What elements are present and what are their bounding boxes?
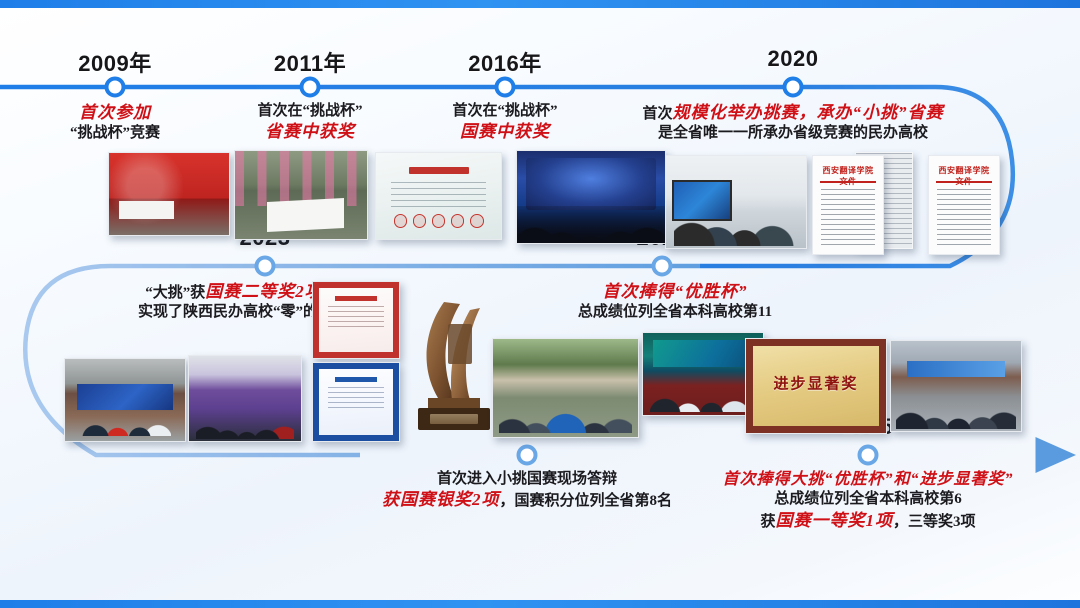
- caption-2025: 首次捧得大挑“优胜杯”和“进步显著奖” 总成绩位列全省本科高校第6 获国赛一等奖…: [722, 470, 1013, 532]
- photo-street-students-image: [891, 341, 1021, 431]
- photo-exhibition-booth-team-image: [189, 356, 301, 441]
- document-body-lines: [937, 189, 990, 246]
- caption-2009-line1: 首次参加: [70, 102, 160, 124]
- caption-2011-line1: 首次在“挑战杯”: [257, 102, 362, 121]
- caption-2011-line2: 省赛中获奖: [257, 121, 362, 143]
- caption-2020: 首次规模化举办挑赛，承办“小挑”省赛 是全省唯一一所承办省级竞赛的民办高校: [642, 102, 943, 143]
- seal-icon: [451, 214, 465, 228]
- photo-team-flag-group[interactable]: [234, 150, 368, 240]
- photo-classroom-competition-image: [666, 156, 806, 248]
- document-rule: [936, 181, 992, 183]
- caption-2024-line1: 首次进入小挑国赛现场答辩: [382, 470, 672, 489]
- trophy-icon: [404, 290, 502, 440]
- photo-conference-hall-image: [517, 151, 665, 243]
- caption-2025-line3-c: ，三等奖3项: [893, 514, 976, 530]
- timeline-slide: 2009年 2011年 2016年 2020 2023 2022 2024 20…: [0, 0, 1080, 608]
- caption-2024-line2: 获国赛银奖2项，国赛积分位列全省第8名: [382, 489, 672, 511]
- caption-2022-line2: 总成绩位列全省本科高校第11: [578, 303, 772, 322]
- photo-street-students[interactable]: [890, 340, 1022, 432]
- photo-plaque-progress-award[interactable]: 进步显著奖: [745, 338, 887, 434]
- photo-exhibition-booth-team[interactable]: [188, 355, 302, 442]
- caption-2016: 首次在“挑战杯” 国赛中获奖: [452, 102, 557, 143]
- year-label-2011: 2011年: [274, 46, 346, 78]
- plaque-award-text: 进步显著奖: [753, 372, 879, 393]
- photo-plaque-progress-award-image: 进步显著奖: [746, 339, 886, 433]
- caption-2009: 首次参加 “挑战杯”竞赛: [70, 102, 160, 143]
- photo-university-document-2-image: 西安翻译学院文件: [929, 156, 999, 254]
- caption-2024-line2-b: ，国赛积分位列全省第8名: [499, 493, 672, 509]
- caption-2024: 首次进入小挑国赛现场答辩 获国赛银奖2项，国赛积分位列全省第8名: [382, 470, 672, 511]
- node-2020: [785, 79, 802, 96]
- document-rule: [820, 181, 876, 183]
- photo-expo-outdoor-group-image: [65, 359, 185, 441]
- document-title-text: 西安翻译学院文件: [935, 165, 994, 187]
- seal-icon: [394, 214, 408, 228]
- year-label-2016: 2016年: [468, 46, 541, 78]
- photo-certificate-blue-image: [313, 363, 399, 441]
- caption-2025-line3: 获国赛一等奖1项，三等奖3项: [722, 510, 1013, 532]
- caption-2024-line2-a: 获国赛银奖2项: [382, 490, 500, 509]
- caption-2025-line2: 总成绩位列全省本科高校第6: [722, 490, 1013, 509]
- bottom-accent-bar: [0, 600, 1080, 608]
- caption-2025-line3-a: 获: [760, 514, 775, 530]
- photo-expo-outdoor-group[interactable]: [64, 358, 186, 442]
- document-title-text: 西安翻译学院文件: [819, 165, 878, 187]
- photo-team-flag-group-image: [235, 151, 367, 239]
- caption-2023-line1-a: “大挑”获: [145, 285, 205, 301]
- photo-certificate-red[interactable]: [312, 281, 400, 359]
- node-2024: [519, 447, 536, 464]
- year-label-2009: 2009年: [78, 46, 151, 78]
- photo-university-document-1[interactable]: 西安翻译学院文件: [812, 155, 884, 255]
- photo-certificate-blue[interactable]: [312, 362, 400, 442]
- year-label-2020: 2020: [768, 46, 819, 72]
- caption-2025-line3-b: 国赛一等奖1项: [775, 511, 893, 530]
- node-2023: [257, 258, 274, 275]
- photo-chuangqingchun-banner[interactable]: [108, 152, 230, 236]
- photo-award-certificate-2016[interactable]: [375, 152, 502, 240]
- node-2016: [497, 79, 514, 96]
- photo-trophy-youshengbei[interactable]: [404, 290, 502, 440]
- top-accent-bar: [0, 0, 1080, 8]
- node-2011: [302, 79, 319, 96]
- photo-conference-hall[interactable]: [516, 150, 666, 244]
- caption-2022: 首次捧得“优胜杯” 总成绩位列全省本科高校第11: [578, 281, 772, 322]
- node-2009: [107, 79, 124, 96]
- photo-certificate-red-image: [313, 282, 399, 358]
- caption-2025-line1: 首次捧得大挑“优胜杯”和“进步显著奖”: [722, 470, 1013, 490]
- seal-icon: [413, 214, 427, 228]
- caption-2020-line2: 是全省唯一一所承办省级竞赛的民办高校: [642, 124, 943, 143]
- photo-campus-group[interactable]: [492, 338, 639, 438]
- node-2025: [860, 447, 877, 464]
- photo-classroom-competition[interactable]: [665, 155, 807, 249]
- caption-2020-line1: 首次规模化举办挑赛，承办“小挑”省赛: [642, 102, 943, 124]
- photo-campus-group-image: [493, 339, 638, 437]
- photo-award-certificate-2016-image: [376, 153, 501, 239]
- node-2022: [654, 258, 671, 275]
- seal-icon: [432, 214, 446, 228]
- document-body-lines: [821, 189, 874, 246]
- caption-2009-line2: “挑战杯”竞赛: [70, 124, 160, 143]
- photo-chuangqingchun-banner-image: [109, 153, 229, 235]
- photo-university-document-2[interactable]: 西安翻译学院文件: [928, 155, 1000, 255]
- caption-2020-line1-a: 首次: [642, 106, 672, 122]
- caption-2020-line1-b: 规模化举办挑赛，承办“小挑”省赛: [673, 103, 944, 122]
- caption-2016-line1: 首次在“挑战杯”: [452, 102, 557, 121]
- certificate-seal-row: [394, 212, 484, 231]
- caption-2016-line2: 国赛中获奖: [452, 121, 557, 143]
- seal-icon: [470, 214, 484, 228]
- caption-2011: 首次在“挑战杯” 省赛中获奖: [257, 102, 362, 143]
- caption-2022-line1: 首次捧得“优胜杯”: [578, 281, 772, 303]
- photo-university-document-1-image: 西安翻译学院文件: [813, 156, 883, 254]
